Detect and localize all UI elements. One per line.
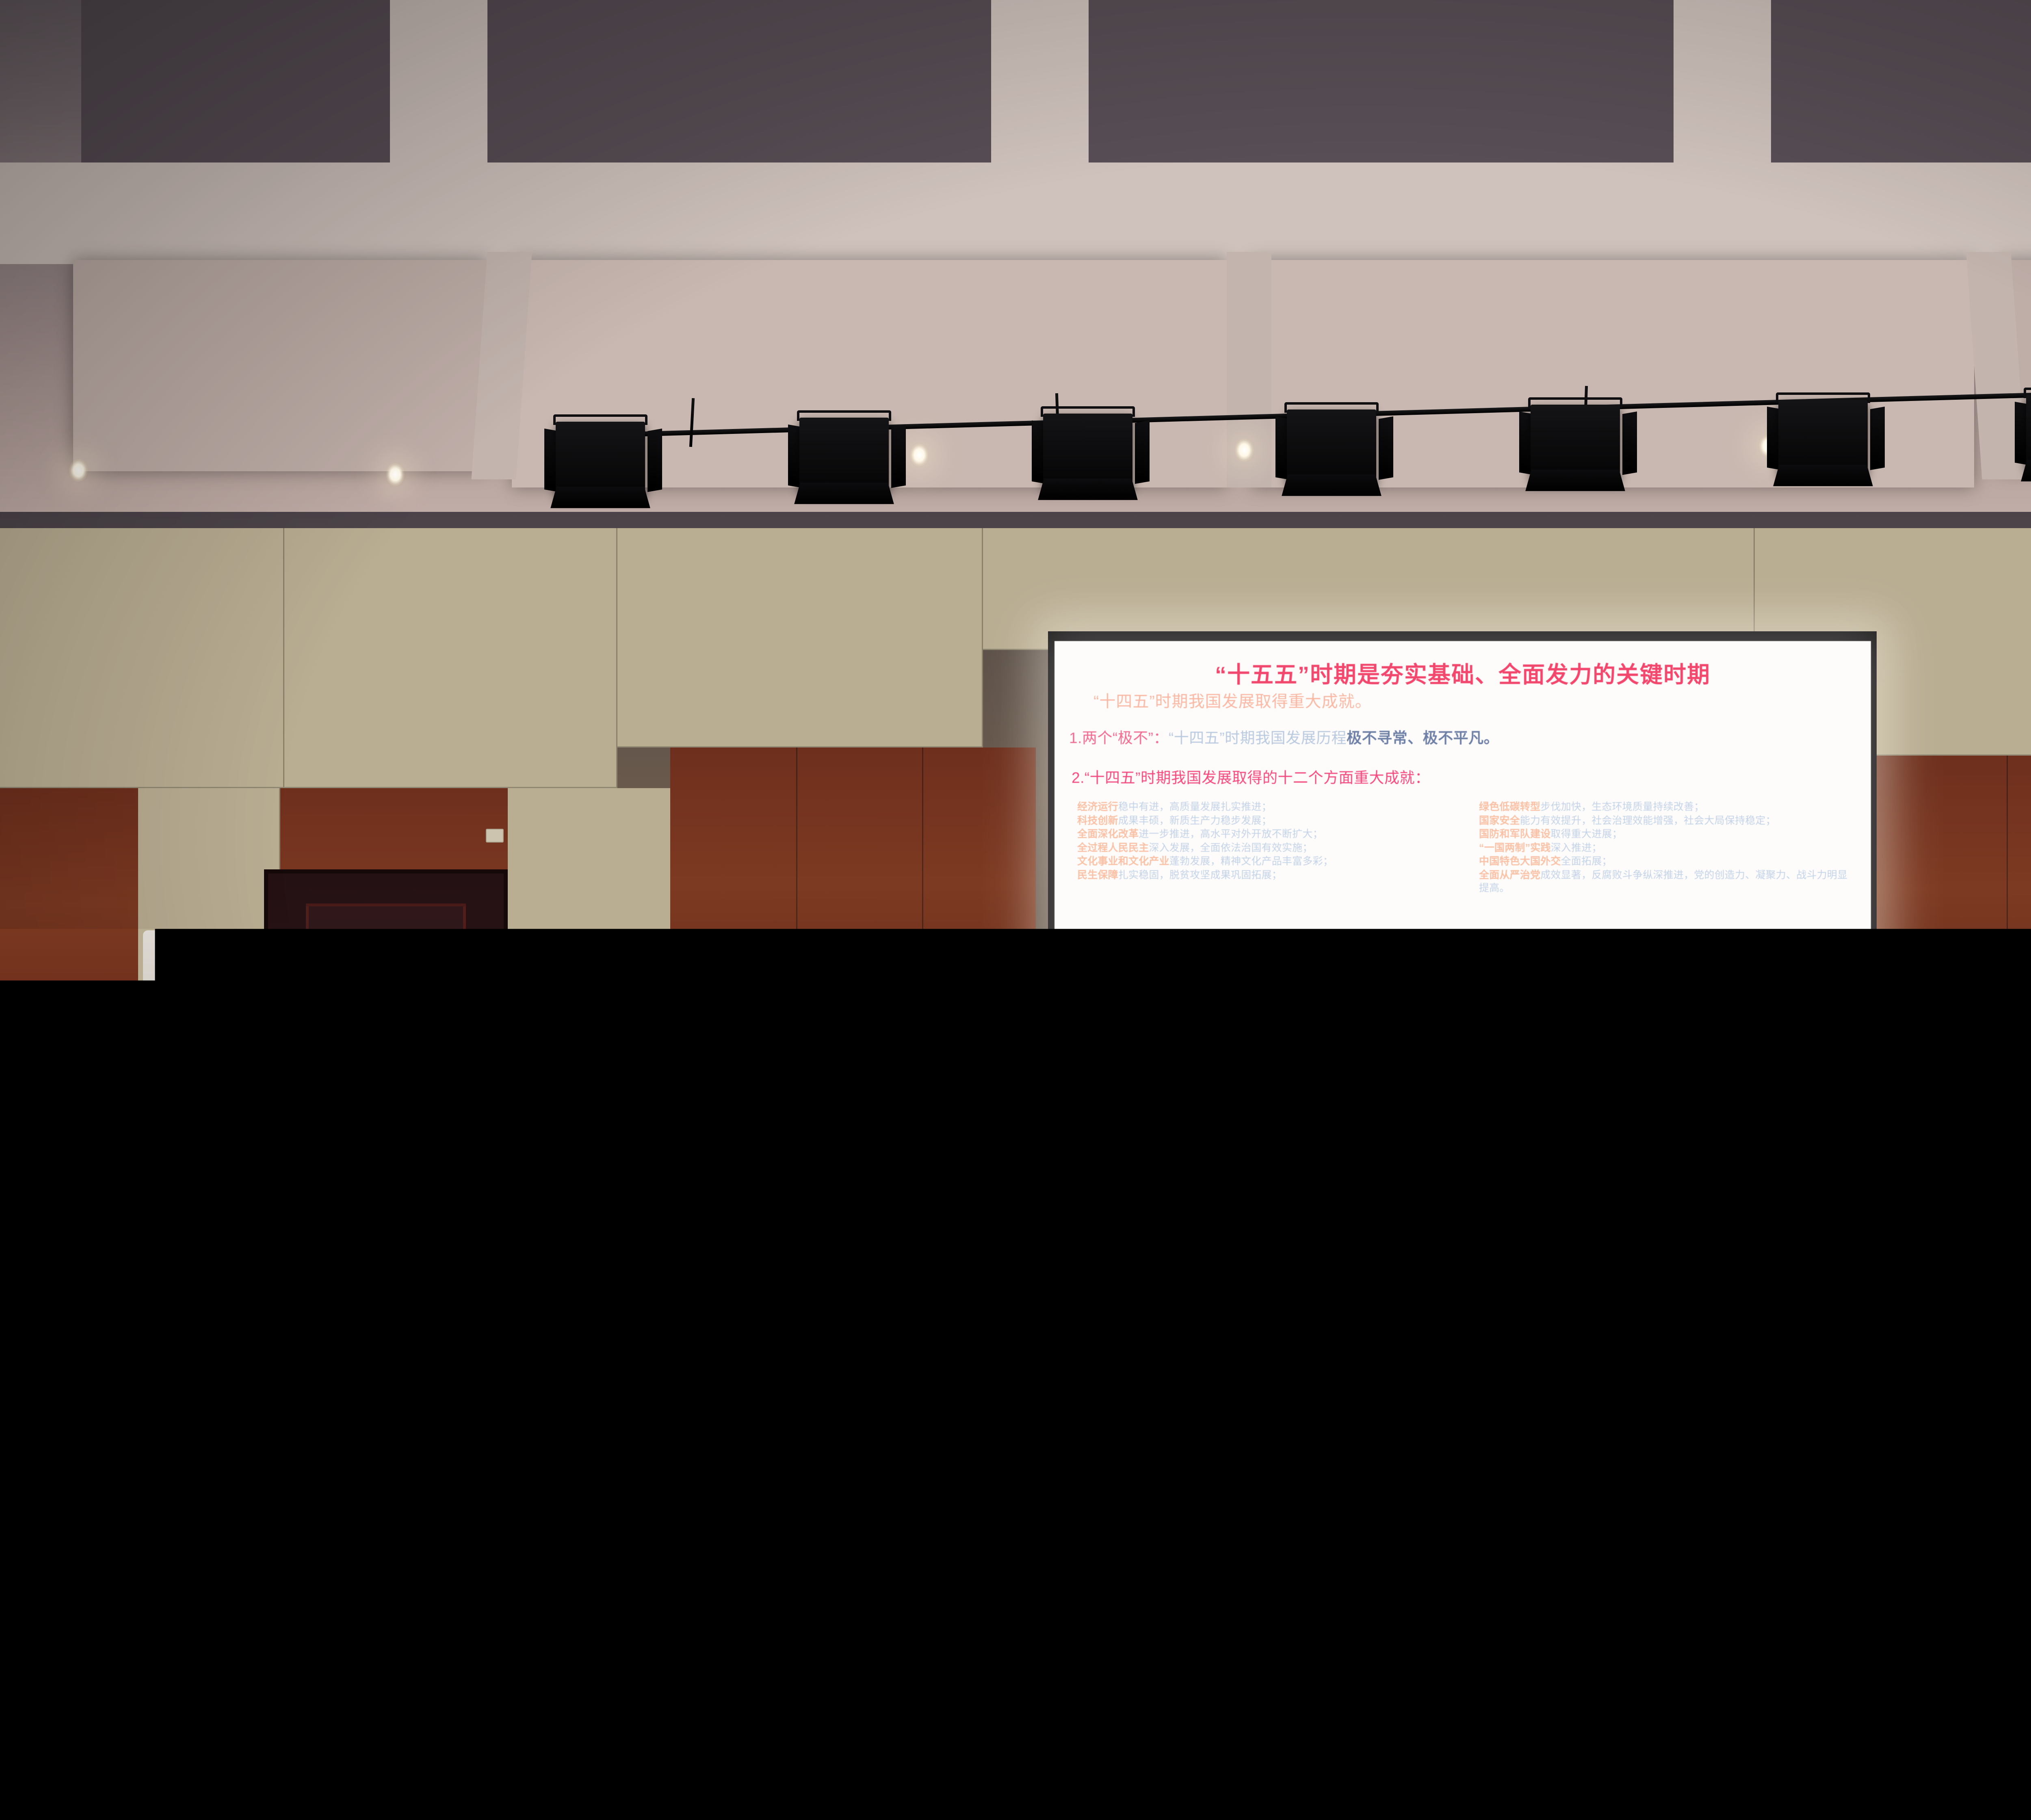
seat-number: 10 bbox=[1927, 1261, 1963, 1280]
slide-column-left: 经济运行稳中有进，高质量发展扎实推进； 科技创新成果丰硕，新质生产力稳步发展； … bbox=[1077, 800, 1447, 895]
seat-qr-label bbox=[1532, 1486, 1613, 1535]
stage-light bbox=[788, 406, 906, 500]
audience-head bbox=[821, 1120, 868, 1176]
ac-grille bbox=[212, 938, 261, 1003]
slide-list-item: 经济运行稳中有进，高质量发展扎实推进； bbox=[1077, 800, 1447, 814]
slide-list-item: 国家安全能力有效提升，社会治理效能增强，社会大局保持稳定； bbox=[1479, 814, 1849, 828]
audience-head-foreground bbox=[1219, 1349, 1369, 1527]
slide-point-2: 2.“十四五”时期我国发展取得的十二个方面重大成就： bbox=[1072, 765, 1430, 787]
audience-head bbox=[1316, 1114, 1365, 1173]
audience-head bbox=[1446, 1109, 1496, 1170]
stage-light bbox=[1275, 398, 1393, 492]
ceiling-downlight bbox=[69, 459, 88, 482]
slide-list-item: 民生保障扎实稳固，脱贫攻坚成果巩固拓展； bbox=[1077, 869, 1447, 882]
slide-column-right: 绿色低碳转型步伐加快，生态环境质量持续改善； 国家安全能力有效提升，社会治理效能… bbox=[1479, 800, 1849, 895]
slide-list-item: 绿色低碳转型步伐加快，生态环境质量持续改善； bbox=[1479, 800, 1849, 814]
slide-list-item: 中国特色大国外交全面拓展； bbox=[1479, 855, 1849, 868]
audience-head bbox=[1438, 1172, 1498, 1244]
audience-head bbox=[934, 1114, 984, 1174]
wall-outlet bbox=[486, 829, 504, 843]
seat-qr-label bbox=[1503, 1383, 1541, 1417]
slide-subtitle: “十四五”时期我国发展取得重大成就。 bbox=[1093, 688, 1372, 712]
seat[interactable] bbox=[626, 1190, 747, 1272]
seat-number: 14 bbox=[276, 1386, 318, 1408]
rack-led-indicator bbox=[113, 1079, 122, 1084]
audience-head bbox=[1584, 1113, 1632, 1172]
audience-head bbox=[1064, 1115, 1111, 1173]
slide-list-item: 科技创新成果丰硕，新质生产力稳步发展； bbox=[1077, 814, 1447, 828]
auditorium-scene: “十五五”时期是夯实基础、全面发力的关键时期 “十四五”时期我国发展取得重大成就… bbox=[0, 0, 2031, 1820]
rack-led-indicator bbox=[113, 1114, 122, 1120]
seat-number: 11 bbox=[1410, 1486, 1462, 1515]
rack-led-indicator bbox=[113, 1096, 122, 1102]
slide-achievement-columns: 经济运行稳中有进，高质量发展扎实推进； 科技创新成果丰硕，新质生产力稳步发展； … bbox=[1077, 800, 1849, 895]
audience-head bbox=[1170, 1263, 1248, 1354]
audience-head bbox=[983, 1174, 1043, 1246]
audience-head bbox=[626, 1269, 703, 1358]
audience-head-foreground bbox=[1747, 1353, 1893, 1527]
audience-head bbox=[723, 1125, 769, 1180]
seat-qr-label bbox=[491, 1488, 572, 1538]
stage-light bbox=[2015, 383, 2031, 477]
ceiling-downlight bbox=[910, 444, 929, 466]
audience-head bbox=[1210, 1170, 1273, 1244]
ceiling bbox=[0, 0, 2031, 577]
slide-point-1-dim: “十四五”时期我国发展历程 bbox=[1169, 730, 1347, 746]
nameplate-subtext bbox=[543, 1548, 566, 1569]
wall-panel bbox=[284, 528, 617, 788]
seat-qr-label bbox=[1015, 1487, 1097, 1537]
audience-head bbox=[1182, 1111, 1233, 1172]
seat-number: 13 bbox=[682, 1384, 725, 1407]
audience-head bbox=[1893, 1172, 1953, 1243]
wall-panel bbox=[617, 528, 983, 747]
slide-title: “十五五”时期是夯实基础、全面发力的关键时期 bbox=[1054, 656, 1871, 689]
ceiling-downlight bbox=[386, 463, 405, 486]
microphone-icon bbox=[1804, 1051, 1812, 1061]
audience-head bbox=[1938, 1109, 1986, 1169]
stage-light bbox=[1032, 402, 1150, 496]
wall-panel bbox=[504, 788, 674, 1097]
stage-light bbox=[544, 410, 662, 504]
nameplate-name: 杨玉其 bbox=[1539, 1578, 1607, 1598]
audience-head bbox=[796, 1172, 857, 1244]
slide-list-item: 全面从严治党成效显著，反腐败斗争纵深推进，党的创造力、凝聚力、战斗力明显提高。 bbox=[1479, 869, 1849, 895]
seat[interactable] bbox=[2015, 1133, 2031, 1198]
audience-head bbox=[414, 1170, 476, 1243]
seat-nameplate: 杨玉其 bbox=[1532, 1535, 1613, 1616]
stage-light bbox=[1519, 393, 1637, 487]
dvon-brand-label: DVON bbox=[79, 1035, 100, 1045]
slide-list-item: 国防和军队建设取得重大进展； bbox=[1479, 828, 1849, 841]
wall-panel bbox=[0, 528, 284, 788]
audience-head bbox=[378, 1272, 453, 1360]
seat-number: 11 bbox=[1440, 1379, 1483, 1402]
power-led-icon bbox=[82, 1051, 87, 1056]
ceiling-downlight bbox=[1235, 439, 1254, 461]
seat-number: 11 bbox=[1568, 1263, 1604, 1283]
school-logo-icon bbox=[496, 1550, 507, 1560]
dvon-brand-label: DVON bbox=[23, 1031, 43, 1043]
audience-head bbox=[57, 1173, 118, 1245]
projection-screen: “十五五”时期是夯实基础、全面发力的关键时期 “十四五”时期我国发展取得重大成就… bbox=[1054, 641, 1871, 1063]
slide-point-1-prefix: 1.两个“极不”： bbox=[1069, 730, 1169, 746]
seat[interactable] bbox=[244, 1190, 366, 1272]
slide-list-item: 全过程人民民主深入发展，全面依法治国有效实施； bbox=[1077, 841, 1447, 855]
audience-head bbox=[1739, 1259, 1816, 1348]
slide-list-item: 文化事业和文化产业蓬勃发展，精神文化产品丰富多彩； bbox=[1077, 855, 1447, 868]
nameplate-subtext bbox=[1068, 1547, 1091, 1568]
slide-point-1: 1.两个“极不”：“十四五”时期我国发展历程极不寻常、极不平凡。 bbox=[1069, 726, 1499, 747]
audience-head bbox=[1617, 1369, 1721, 1489]
seat-number: 13 bbox=[407, 1491, 460, 1519]
door-handle-icon[interactable] bbox=[285, 1085, 291, 1121]
presenter-laptop[interactable] bbox=[1840, 1089, 1913, 1137]
glasses-icon bbox=[1830, 1029, 1874, 1037]
nameplate-subtext bbox=[1585, 1545, 1608, 1566]
audience-head bbox=[1657, 1168, 1719, 1241]
slide-list-item: “一国两制”实践深入推进； bbox=[1479, 841, 1849, 855]
audience-head bbox=[577, 1175, 636, 1246]
power-led-icon bbox=[26, 1048, 32, 1053]
slide-list-item: 全面深化改革进一步推进，高水平对外开放不断扩大； bbox=[1077, 828, 1447, 841]
name-card-org: 郑州艺术幼儿师范学校 bbox=[1932, 1092, 1966, 1097]
floor bbox=[0, 1739, 2031, 1820]
seat-number: 12 bbox=[1080, 1382, 1123, 1404]
school-logo-icon bbox=[1538, 1547, 1548, 1557]
slide-point-1-bold: 极不寻常、极不平凡。 bbox=[1347, 730, 1499, 746]
seat-number: 10 bbox=[1929, 1485, 1981, 1513]
stage-light bbox=[1767, 388, 1885, 482]
audience-head bbox=[187, 1176, 245, 1246]
